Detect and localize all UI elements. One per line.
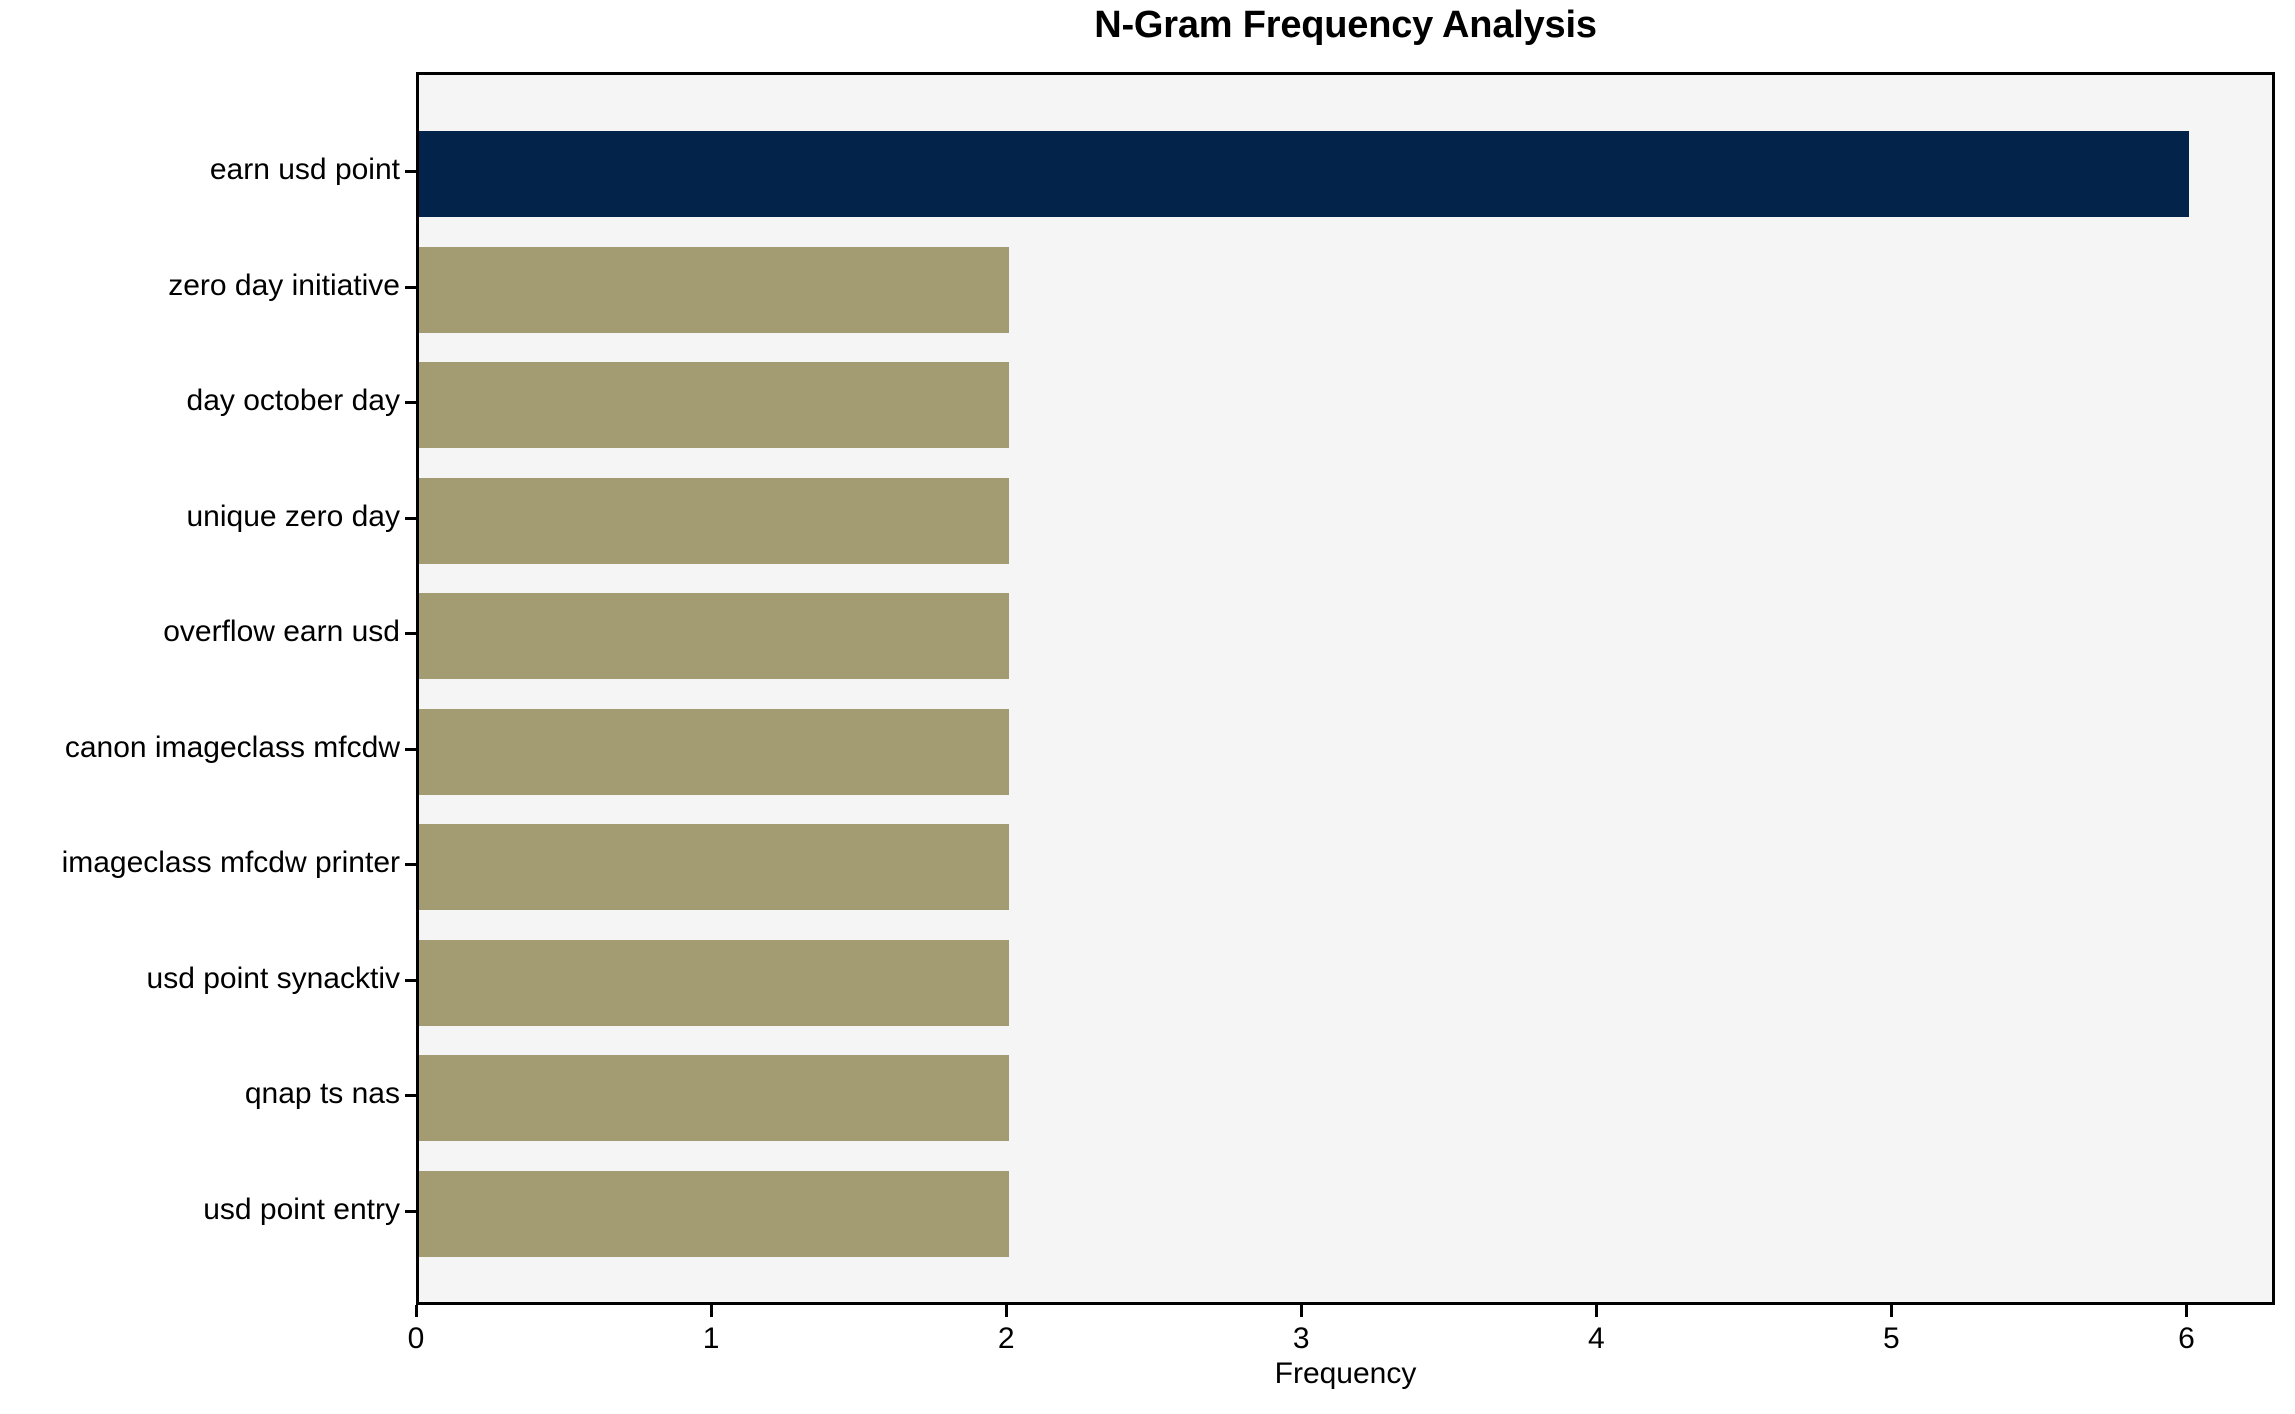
- x-tick-mark: [1595, 1305, 1598, 1317]
- bar: [419, 709, 1009, 795]
- x-tick-label: 4: [1556, 1324, 1636, 1354]
- x-tick-mark: [1005, 1305, 1008, 1317]
- y-tick-label: overflow earn usd: [163, 617, 400, 647]
- x-tick-label: 3: [1261, 1324, 1341, 1354]
- chart-figure: N-Gram Frequency Analysis earn usd point…: [0, 0, 2295, 1414]
- y-tick-mark: [405, 632, 416, 635]
- x-tick-mark: [1890, 1305, 1893, 1317]
- chart-title: N-Gram Frequency Analysis: [416, 4, 2275, 47]
- y-tick-label: usd point entry: [203, 1195, 400, 1225]
- x-tick-label: 0: [376, 1324, 456, 1354]
- x-tick-mark: [2185, 1305, 2188, 1317]
- x-tick-label: 1: [671, 1324, 751, 1354]
- x-tick-mark: [1300, 1305, 1303, 1317]
- y-tick-mark: [405, 1094, 416, 1097]
- y-tick-mark: [405, 979, 416, 982]
- bar: [419, 362, 1009, 448]
- bar: [419, 247, 1009, 333]
- y-tick-mark: [405, 517, 416, 520]
- x-tick-label: 2: [966, 1324, 1046, 1354]
- bar: [419, 1171, 1009, 1257]
- x-tick-mark: [415, 1305, 418, 1317]
- y-tick-mark: [405, 748, 416, 751]
- bar: [419, 940, 1009, 1026]
- x-tick-label: 5: [1851, 1324, 1931, 1354]
- y-tick-mark: [405, 863, 416, 866]
- bar: [419, 131, 2189, 217]
- y-tick-mark: [405, 286, 416, 289]
- x-axis-title: Frequency: [416, 1357, 2275, 1391]
- bar: [419, 1055, 1009, 1141]
- y-tick-label: day october day: [187, 386, 400, 416]
- x-tick-label: 6: [2146, 1324, 2226, 1354]
- y-tick-label: usd point synacktiv: [147, 964, 400, 994]
- y-tick-label: qnap ts nas: [245, 1079, 400, 1109]
- bar: [419, 478, 1009, 564]
- bar: [419, 824, 1009, 910]
- y-tick-mark: [405, 401, 416, 404]
- y-tick-label: canon imageclass mfcdw: [65, 733, 400, 763]
- y-tick-label: zero day initiative: [168, 271, 400, 301]
- bar: [419, 593, 1009, 679]
- plot-area: [416, 72, 2275, 1305]
- y-tick-mark: [405, 1210, 416, 1213]
- bars-container: [419, 75, 2272, 1302]
- y-tick-mark: [405, 170, 416, 173]
- y-tick-label: imageclass mfcdw printer: [62, 848, 400, 878]
- y-tick-label: earn usd point: [210, 155, 400, 185]
- y-tick-label: unique zero day: [187, 502, 401, 532]
- x-tick-mark: [710, 1305, 713, 1317]
